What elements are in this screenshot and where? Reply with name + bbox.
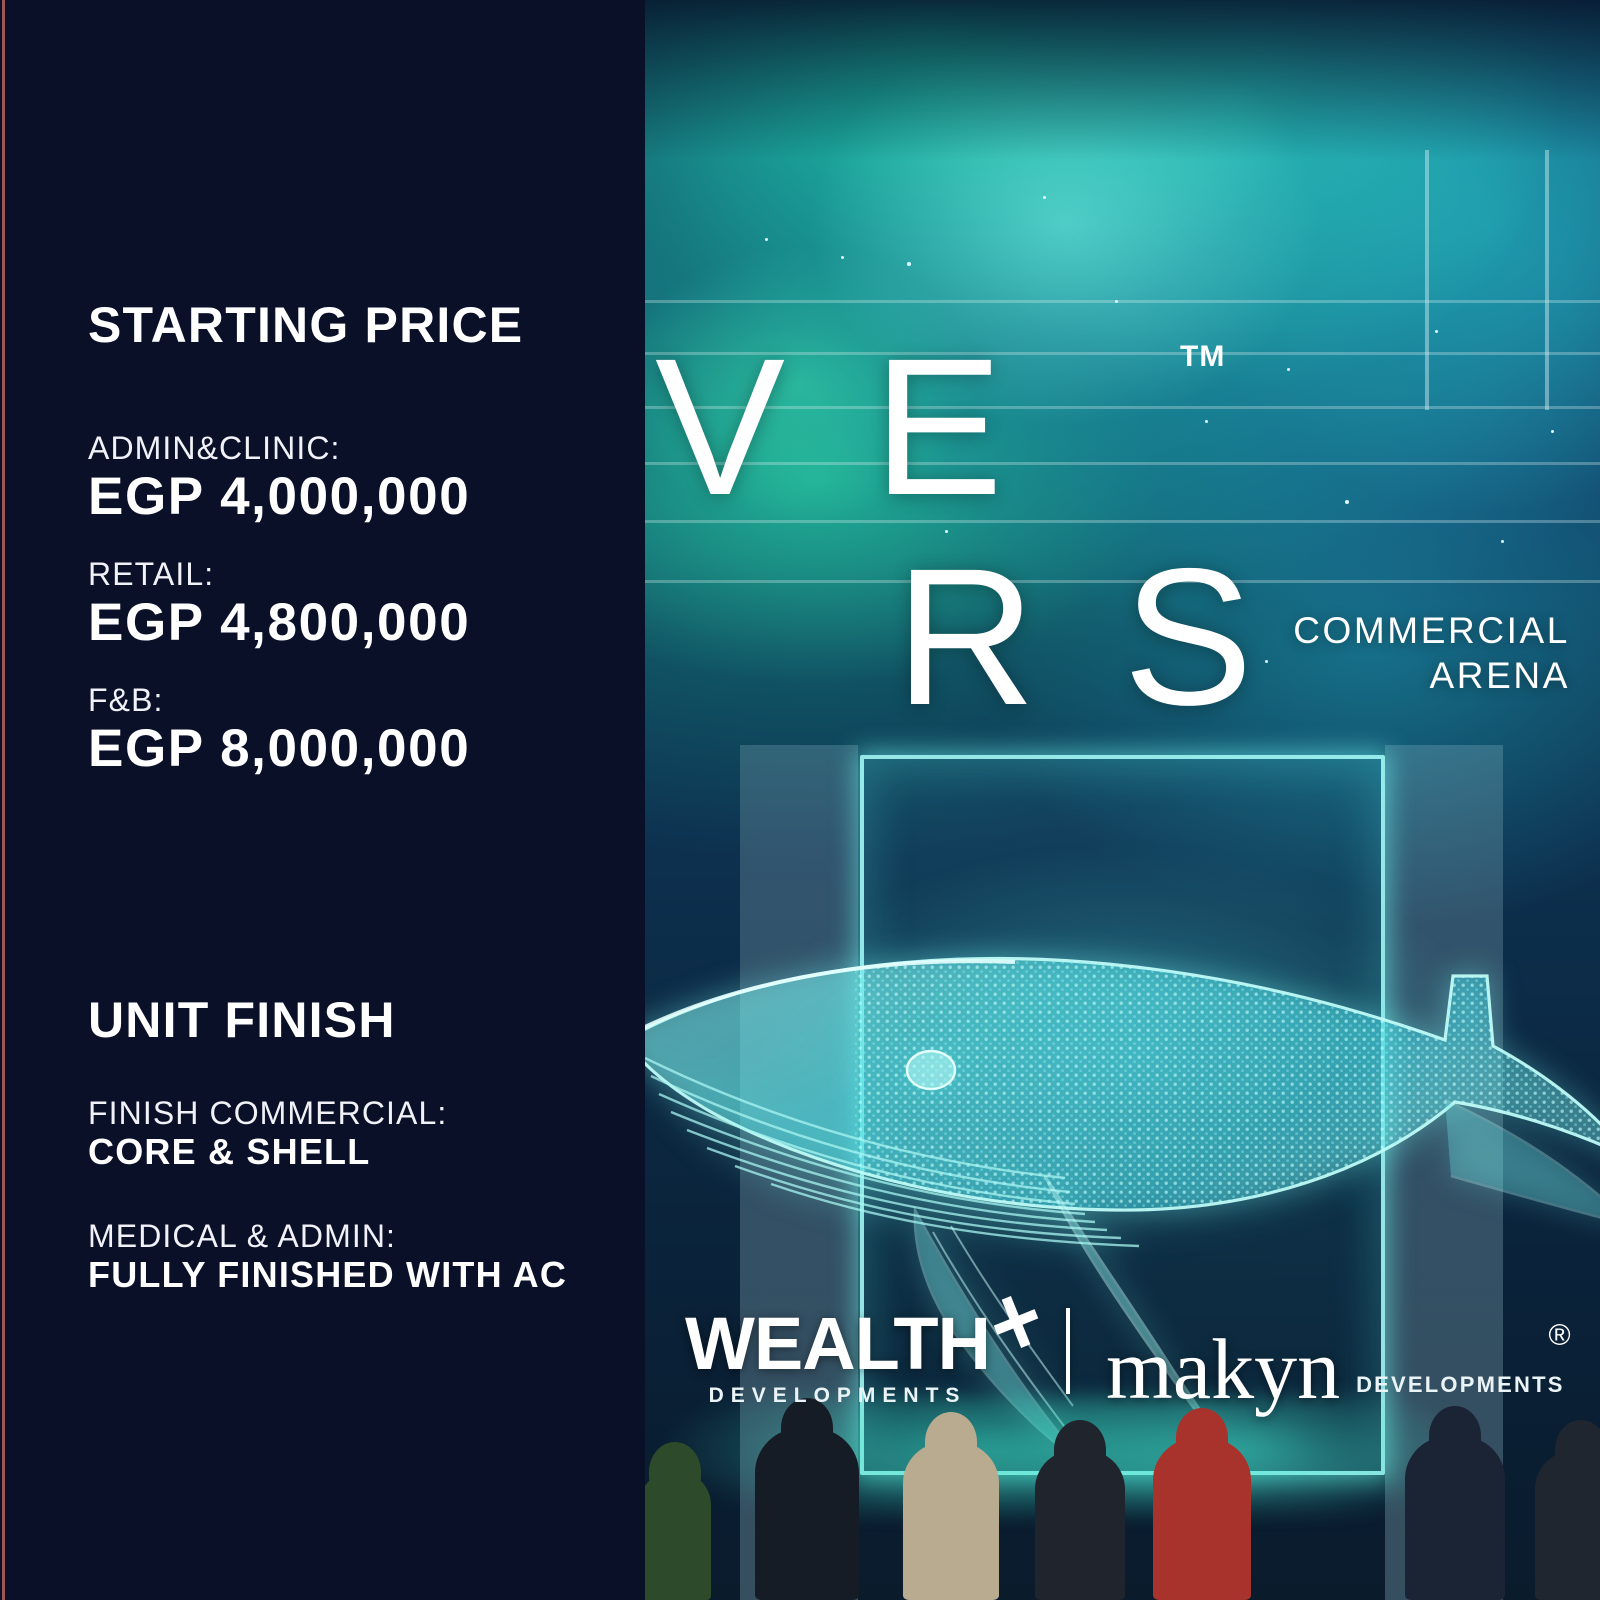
person-silhouette <box>1035 1450 1125 1600</box>
wealth-logo: WEALTH DEVELOPMENTS <box>685 1310 990 1408</box>
makyn-wordmark: makyn <box>1106 1331 1340 1408</box>
wealth-wordmark: WEALTH <box>685 1310 990 1378</box>
poster-root: STARTING PRICE ADMIN&CLINIC: EGP 4,000,0… <box>0 0 1600 1600</box>
person-silhouette <box>903 1442 999 1600</box>
finish-item-commercial: FINISH COMMERCIAL: CORE & SHELL <box>88 1095 628 1172</box>
person-silhouette <box>755 1428 859 1600</box>
makyn-subtitle: DEVELOPMENTS <box>1356 1372 1565 1398</box>
panel-content: STARTING PRICE ADMIN&CLINIC: EGP 4,000,0… <box>88 0 628 1600</box>
starting-price-list: ADMIN&CLINIC: EGP 4,000,000 RETAIL: EGP … <box>88 430 628 778</box>
price-label: ADMIN&CLINIC: <box>88 430 628 467</box>
person-silhouette <box>1153 1438 1251 1600</box>
unit-finish-heading: UNIT FINISH <box>88 995 396 1046</box>
brand-divider <box>1066 1308 1070 1394</box>
finish-label: MEDICAL & ADMIN: <box>88 1218 628 1255</box>
accent-rule <box>2 0 5 1600</box>
price-item-fnb: F&B: EGP 8,000,000 <box>88 682 628 778</box>
starting-price-heading: STARTING PRICE <box>88 300 523 351</box>
unit-finish-list: FINISH COMMERCIAL: CORE & SHELL MEDICAL … <box>88 1095 628 1295</box>
finish-value: FULLY FINISHED WITH AC <box>88 1255 628 1295</box>
price-value: EGP 8,000,000 <box>88 719 628 778</box>
price-item-admin-clinic: ADMIN&CLINIC: EGP 4,000,000 <box>88 430 628 526</box>
wealth-subtitle: DEVELOPMENTS <box>685 1384 990 1408</box>
person-silhouette <box>1405 1436 1505 1600</box>
finish-value: CORE & SHELL <box>88 1132 628 1172</box>
info-panel: STARTING PRICE ADMIN&CLINIC: EGP 4,000,0… <box>0 0 645 1600</box>
finish-label: FINISH COMMERCIAL: <box>88 1095 628 1132</box>
registered-trademark-icon: ® <box>1549 1319 1571 1353</box>
render-visual: WEALTH DEVELOPMENTS makyn ® DEVELOPMENTS… <box>645 0 1600 1600</box>
price-value: EGP 4,000,000 <box>88 467 628 526</box>
price-item-retail: RETAIL: EGP 4,800,000 <box>88 556 628 652</box>
person-silhouette <box>1535 1450 1600 1600</box>
price-label: F&B: <box>88 682 628 719</box>
wealth-cross-icon <box>988 1294 1044 1350</box>
price-label: RETAIL: <box>88 556 628 593</box>
brand-lockup: WEALTH DEVELOPMENTS makyn ® DEVELOPMENTS <box>685 1308 1565 1408</box>
finish-item-medical-admin: MEDICAL & ADMIN: FULLY FINISHED WITH AC <box>88 1218 628 1295</box>
price-value: EGP 4,800,000 <box>88 593 628 652</box>
makyn-logo: makyn ® DEVELOPMENTS <box>1106 1331 1565 1408</box>
audience-silhouettes <box>645 1390 1600 1600</box>
person-silhouette <box>645 1472 711 1600</box>
